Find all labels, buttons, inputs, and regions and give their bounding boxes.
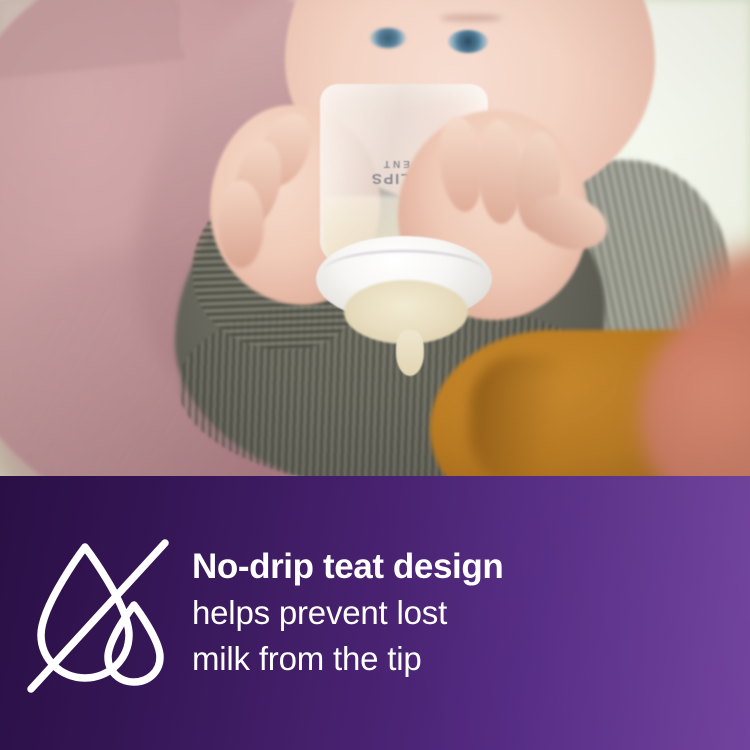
- feature-subline-1: helps prevent lost: [192, 590, 750, 636]
- product-lifestyle-photo: PHILIPS AVENT: [0, 0, 750, 476]
- feature-headline: No-drip teat design: [192, 544, 750, 590]
- product-feature-card: PHILIPS AVENT: [0, 0, 750, 750]
- feature-band: No-drip teat design helps prevent lost m…: [0, 476, 750, 750]
- no-drip-droplet-icon: [8, 476, 188, 750]
- photo-vignette: [0, 0, 750, 476]
- feature-copy: No-drip teat design helps prevent lost m…: [188, 544, 750, 682]
- feature-subline-2: milk from the tip: [192, 636, 750, 682]
